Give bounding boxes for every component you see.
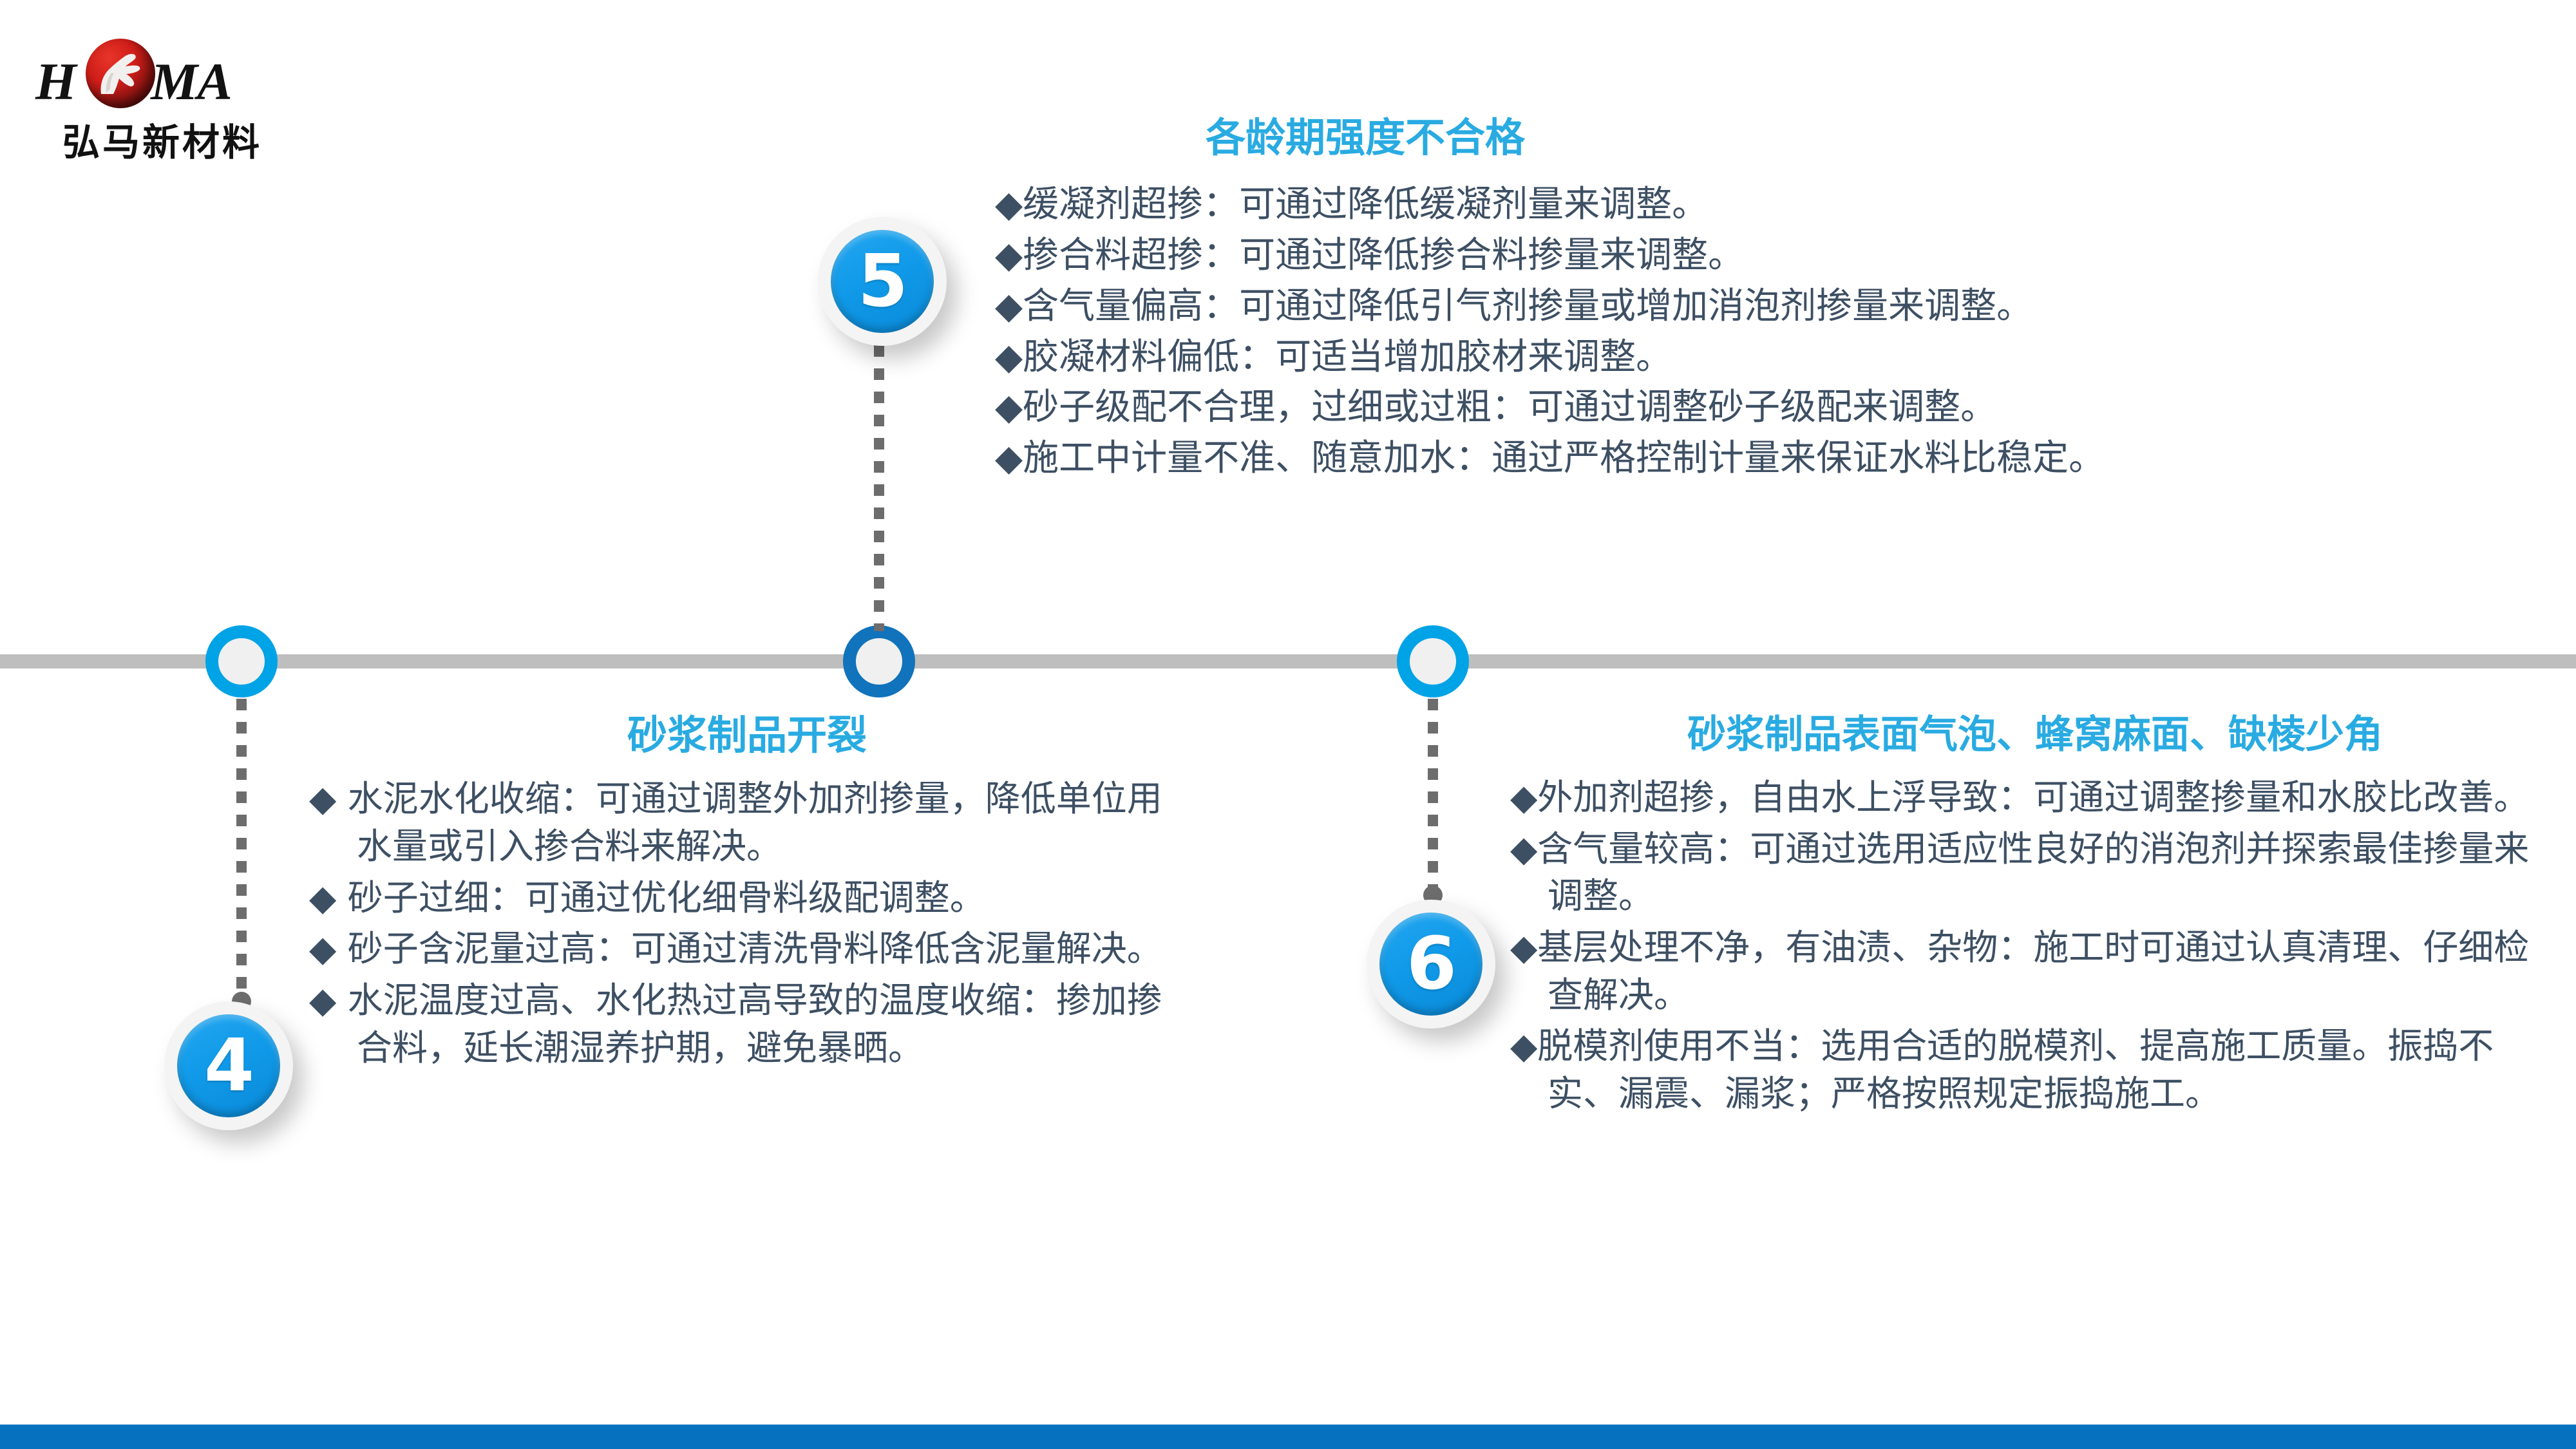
step-bubble-4[interactable]: 4 [164, 1001, 293, 1130]
timeline-node-6[interactable] [1397, 625, 1469, 697]
timeline-node-4[interactable] [205, 625, 278, 697]
bullet-item: ◆外加剂超掺，自由水上浮导致：可通过调整掺量和水胶比改善。 [1510, 774, 2560, 822]
horse-head-icon [96, 48, 145, 99]
section-6-title: 砂浆制品表面气泡、蜂窝麻面、缺棱少角 [1510, 714, 2560, 756]
bullet-item: ◆ 水泥温度过高、水化热过高导致的温度收缩：掺加掺合料，延长潮湿养护期，避免暴晒… [309, 977, 1185, 1072]
footer-accent-bar [0, 1425, 2576, 1449]
connector-line-4 [236, 699, 247, 995]
logo-chinese-name: 弘马新材料 [62, 112, 262, 166]
step-bubble-4-inner: 4 [177, 1014, 280, 1117]
bullet-item: ◆含气量较高：可通过选用适应性良好的消泡剂并探索最佳掺量来调整。 [1510, 826, 2560, 920]
bullet-item: ◆掺合料超掺：可通过降低掺合料掺量来调整。 [995, 232, 2502, 279]
bullet-item: ◆缓凝剂超掺：可通过降低缓凝剂量来调整。 [995, 182, 2502, 229]
bullet-item: ◆ 水泥水化收缩：可通过调整外加剂掺量，降低单位用水量或引入掺合料来解决。 [309, 775, 1185, 870]
section-5-title: 各龄期强度不合格 [995, 116, 1736, 160]
step-bubble-6-inner: 6 [1379, 913, 1482, 1016]
bullet-item: ◆砂子级配不合理，过细或过粗：可通过调整砂子级配来调整。 [995, 384, 2502, 431]
step-bubble-5-inner: 5 [831, 230, 934, 333]
section-4-bullet-list: ◆ 水泥水化收缩：可通过调整外加剂掺量，降低单位用水量或引入掺合料来解决。 ◆ … [309, 775, 1185, 1072]
slide-canvas: HONMA 弘马新材料 5 4 6 各龄期强度不合格 [0, 0, 2576, 1449]
step-number-6: 6 [1406, 928, 1455, 1000]
section-strength-failure: 各龄期强度不合格 ◆缓凝剂超掺：可通过降低缓凝剂量来调整。 ◆掺合料超掺：可通过… [995, 116, 2502, 486]
timeline-bar [0, 654, 2576, 668]
step-number-4: 4 [204, 1030, 253, 1102]
bullet-item: ◆含气量偏高：可通过降低引气剂掺量或增加消泡剂掺量来调整。 [995, 283, 2502, 330]
bullet-item: ◆ 砂子过细：可通过优化细骨料级配调整。 [309, 875, 1185, 922]
company-logo: HONMA 弘马新材料 [35, 27, 248, 175]
bullet-item: ◆基层处理不净，有油渍、杂物：施工时可通过认真清理、仔细检查解决。 [1510, 924, 2560, 1019]
section-6-bullet-list: ◆外加剂超掺，自由水上浮导致：可通过调整掺量和水胶比改善。 ◆含气量较高：可通过… [1510, 774, 2560, 1118]
bullet-item: ◆ 砂子含泥量过高：可通过清洗骨料降低含泥量解决。 [309, 925, 1185, 973]
step-number-5: 5 [858, 245, 907, 317]
logo-wordmark-prefix: H [35, 52, 76, 111]
connector-line-6 [1428, 699, 1438, 892]
bullet-item: ◆脱模剂使用不当：选用合适的脱模剂、提高施工质量。振捣不实、漏震、漏浆；严格按照… [1510, 1023, 2560, 1117]
section-surface-defects: 砂浆制品表面气泡、蜂窝麻面、缺棱少角 ◆外加剂超掺，自由水上浮导致：可通过调整掺… [1510, 714, 2560, 1122]
step-bubble-5[interactable]: 5 [818, 217, 947, 346]
bullet-item: ◆胶凝材料偏低：可适当增加胶材来调整。 [995, 334, 2502, 381]
section-4-title: 砂浆制品开裂 [309, 714, 1185, 757]
section-mortar-cracking: 砂浆制品开裂 ◆ 水泥水化收缩：可通过调整外加剂掺量，降低单位用水量或引入掺合料… [309, 714, 1185, 1075]
section-5-bullet-list: ◆缓凝剂超掺：可通过降低缓凝剂量来调整。 ◆掺合料超掺：可通过降低掺合料掺量来调… [995, 182, 2502, 482]
connector-line-5 [874, 322, 884, 631]
horse-head-emblem-icon [86, 39, 155, 108]
bullet-item: ◆施工中计量不准、随意加水：通过严格控制计量来保证水料比稳定。 [995, 435, 2502, 482]
step-bubble-6[interactable]: 6 [1367, 900, 1495, 1028]
timeline-node-5[interactable] [843, 625, 915, 697]
